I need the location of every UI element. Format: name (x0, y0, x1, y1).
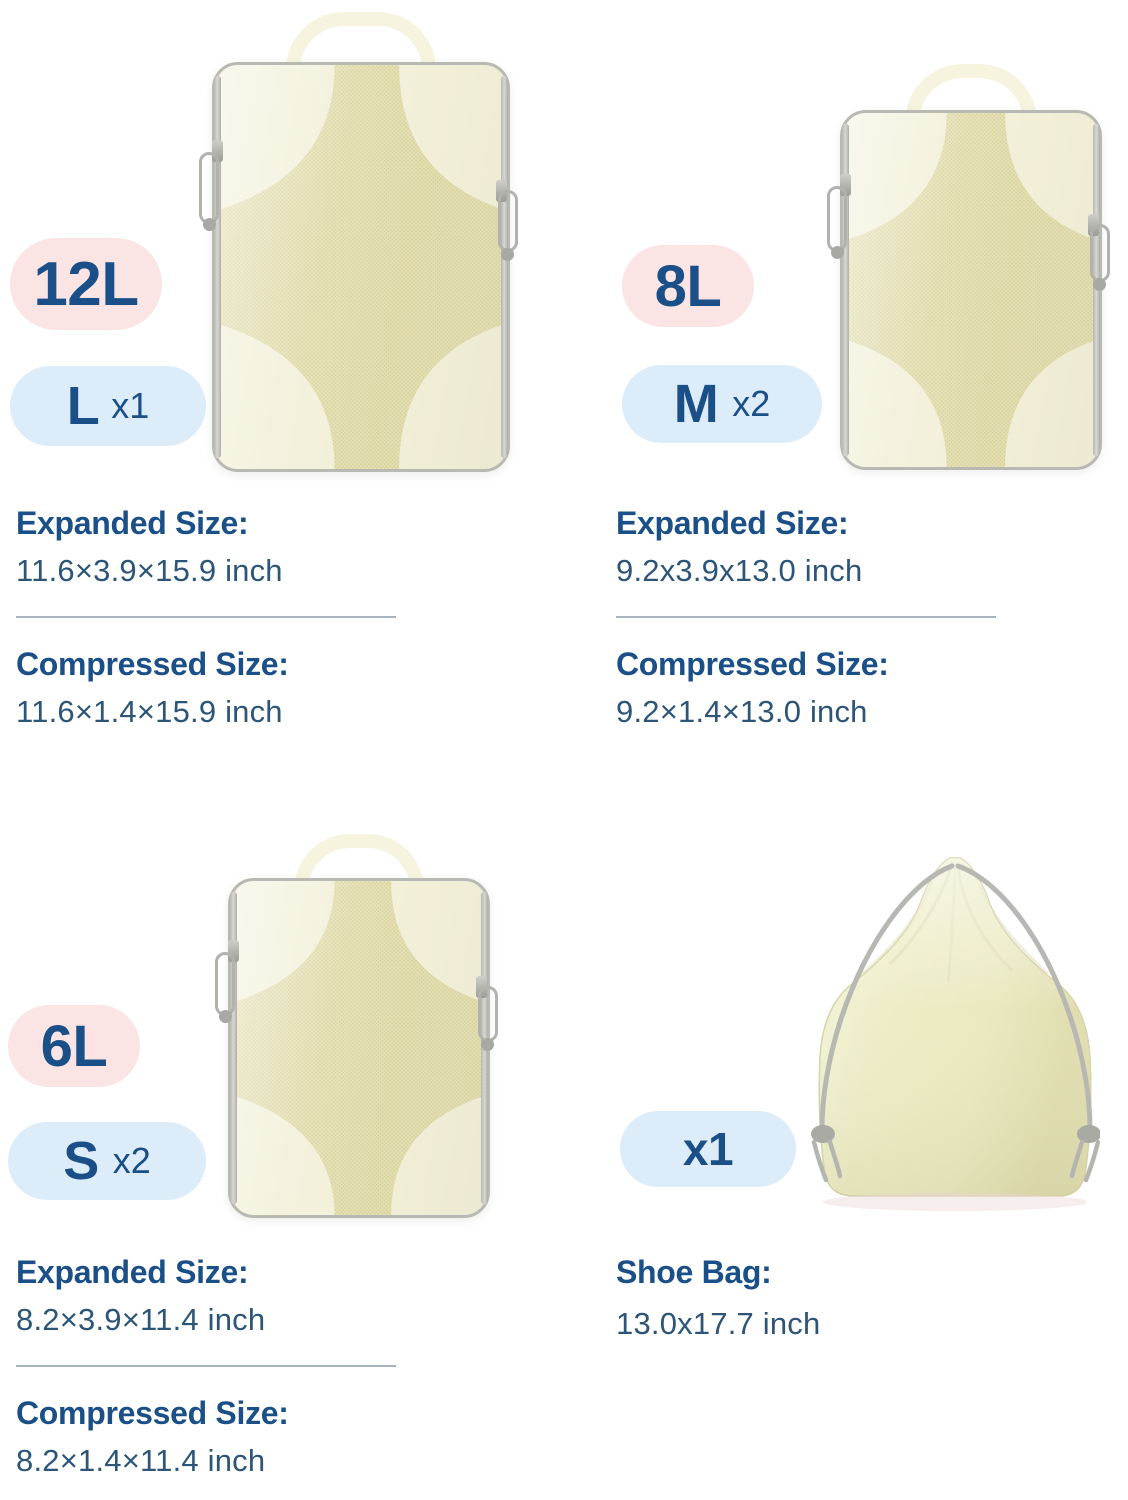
specs-medium: Expanded Size: 9.2x3.9x13.0 inch Compres… (616, 503, 1006, 734)
expanded-size-value: 11.6×3.9×15.9 inch (16, 549, 406, 592)
cube-mesh-panel-icon (215, 65, 507, 469)
expanded-size-title: Expanded Size: (16, 1252, 406, 1292)
specs-small: Expanded Size: 8.2×3.9×11.4 inch Compres… (16, 1252, 406, 1483)
spec-divider (16, 616, 396, 618)
cube-mesh-panel-icon (231, 881, 487, 1215)
compressed-size-title: Compressed Size: (16, 1393, 406, 1433)
size-badge-small: S x2 (8, 1122, 206, 1200)
quantity-label: x2 (113, 1140, 151, 1182)
size-letter-label: L (67, 375, 100, 437)
quantity-badge-shoebag: x1 (620, 1111, 796, 1187)
packing-cube-small-icon (228, 878, 490, 1218)
compressed-size-title: Compressed Size: (616, 644, 1006, 684)
volume-badge-medium: 8L (622, 245, 754, 327)
cube-zipper-pull-right[interactable] (1088, 214, 1114, 314)
product-cell-large: 12L L x1 Expanded Size: 11.6×3.9×15.9 in… (0, 0, 564, 800)
specs-large: Expanded Size: 11.6×3.9×15.9 inch Compre… (16, 503, 406, 734)
compressed-size-title: Compressed Size: (16, 644, 406, 684)
cube-mesh-panel-icon (843, 113, 1099, 467)
cube-zipper-pull-right[interactable] (496, 180, 522, 284)
expanded-size-value: 8.2×3.9×11.4 inch (16, 1298, 406, 1341)
product-cell-small: 6L S x2 Expanded Size: 8.2×3.9×11.4 inch… (0, 800, 564, 1500)
packing-cube-medium-icon (840, 110, 1102, 470)
product-cell-medium: 8L M x2 Expanded Size: 9.2x3.9x13.0 inch… (564, 0, 1128, 800)
quantity-label: x2 (732, 383, 770, 425)
cube-body (228, 878, 490, 1218)
cube-zipper-rail-left (230, 892, 237, 1204)
expanded-size-value: 9.2x3.9x13.0 inch (616, 549, 1006, 592)
expanded-size-title: Expanded Size: (16, 503, 406, 543)
drawstring-bag-icon (810, 846, 1100, 1226)
expanded-size-title: Expanded Size: (616, 503, 1006, 543)
cube-zipper-pull-left[interactable] (196, 140, 226, 252)
shoebag-title: Shoe Bag: (616, 1252, 1006, 1292)
packing-cube-large-icon (212, 62, 510, 472)
volume-badge-label: 8L (655, 253, 722, 320)
cube-zipper-pull-left[interactable] (212, 940, 242, 1044)
specs-shoebag: Shoe Bag: 13.0x17.7 inch (616, 1252, 1006, 1345)
quantity-label: x1 (111, 385, 149, 427)
size-letter-label: M (674, 373, 718, 435)
drawstring-bag-shape (810, 846, 1100, 1226)
compressed-size-value: 9.2×1.4×13.0 inch (616, 690, 1006, 733)
compressed-size-value: 8.2×1.4×11.4 inch (16, 1439, 406, 1482)
size-letter-label: S (63, 1130, 99, 1192)
cube-zipper-pull-right[interactable] (476, 976, 502, 1072)
product-cell-shoebag: x1 Shoe Bag: 13.0x17.7 inch (564, 800, 1128, 1500)
volume-badge-label: 12L (33, 249, 138, 320)
cube-zipper-pull-left[interactable] (824, 174, 854, 280)
shoebag-size-value: 13.0x17.7 inch (616, 1302, 1006, 1345)
cube-zipper-rail-left (214, 76, 221, 458)
quantity-label: x1 (683, 1122, 733, 1176)
spec-divider (16, 1365, 396, 1367)
cube-body (840, 110, 1102, 470)
volume-badge-small: 6L (8, 1005, 140, 1087)
size-badge-medium: M x2 (622, 365, 822, 443)
volume-badge-label: 6L (41, 1013, 108, 1080)
spec-divider (616, 616, 996, 618)
volume-badge-large: 12L (10, 238, 162, 330)
size-badge-large: L x1 (10, 366, 206, 446)
compressed-size-value: 11.6×1.4×15.9 inch (16, 690, 406, 733)
product-size-chart: 12L L x1 Expanded Size: 11.6×3.9×15.9 in… (0, 0, 1128, 1500)
cube-body (212, 62, 510, 472)
